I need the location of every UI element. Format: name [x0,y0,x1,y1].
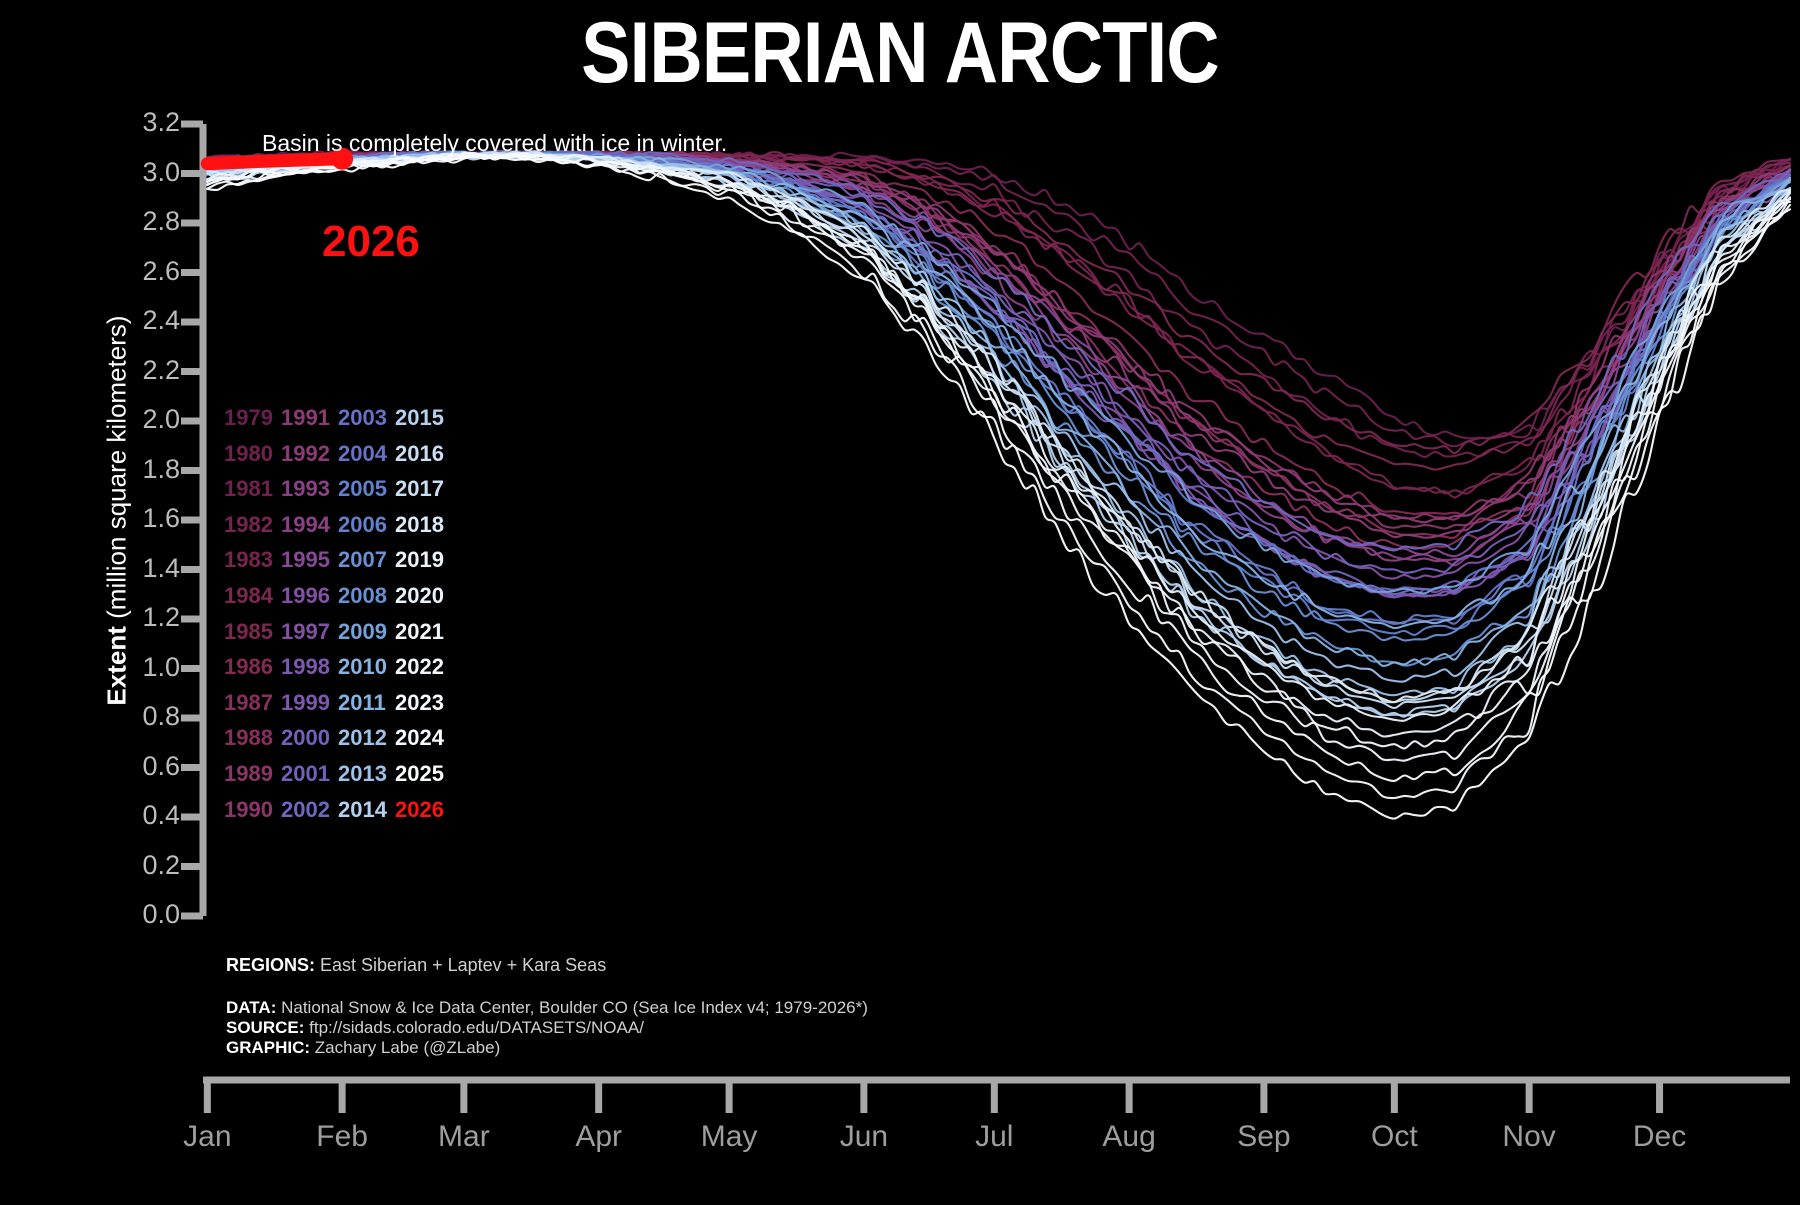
y-axis-tick-label: 0.2 [110,852,180,879]
x-axis-tick-label: Jul [934,1120,1054,1154]
legend-year-2023[interactable]: 2023 [395,685,452,721]
footer-source-label: SOURCE: [226,1018,304,1037]
legend-row: 1990200220142026 [224,792,452,828]
y-axis-tick-label: 3.2 [110,109,180,136]
legend-year-1980[interactable]: 1980 [224,436,281,472]
legend-year-1995[interactable]: 1995 [281,542,338,578]
footer-regions: REGIONS: East Siberian + Laptev + Kara S… [226,955,868,976]
current-year-line [207,159,342,164]
y-axis-tick-label: 0.0 [110,901,180,928]
legend-year-2025[interactable]: 2025 [395,756,452,792]
legend-year-1985[interactable]: 1985 [224,614,281,650]
legend-year-1984[interactable]: 1984 [224,578,281,614]
legend-row: 1984199620082020 [224,578,452,614]
footer-regions-value: East Siberian + Laptev + Kara Seas [315,955,606,975]
legend-year-1997[interactable]: 1997 [281,614,338,650]
x-axis-tick-label: Dec [1600,1120,1720,1154]
legend-year-2021[interactable]: 2021 [395,614,452,650]
footer-graphic-label: GRAPHIC: [226,1038,310,1057]
x-axis-tick-label: Nov [1469,1120,1589,1154]
legend-year-2019[interactable]: 2019 [395,542,452,578]
x-axis-tick-label: Feb [282,1120,402,1154]
legend-year-2015[interactable]: 2015 [395,400,452,436]
legend-year-2011[interactable]: 2011 [338,685,395,721]
legend-year-2014[interactable]: 2014 [338,792,395,828]
legend-year-2012[interactable]: 2012 [338,720,395,756]
legend-row: 1980199220042016 [224,436,452,472]
legend-year-1991[interactable]: 1991 [281,400,338,436]
footer-graphic: GRAPHIC: Zachary Labe (@ZLabe) [226,1038,868,1058]
legend-row: 1983199520072019 [224,542,452,578]
y-axis-tick-label: 3.0 [110,159,180,186]
legend-row: 1981199320052017 [224,471,452,507]
x-axis-tick-label: Aug [1069,1120,1189,1154]
x-axis-tick-label: Jun [804,1120,924,1154]
legend-year-2000[interactable]: 2000 [281,720,338,756]
footer-graphic-value: Zachary Labe (@ZLabe) [310,1038,500,1057]
legend-year-2016[interactable]: 2016 [395,436,452,472]
legend-year-1987[interactable]: 1987 [224,685,281,721]
legend-year-1999[interactable]: 1999 [281,685,338,721]
legend-year-1986[interactable]: 1986 [224,649,281,685]
legend-year-2010[interactable]: 2010 [338,649,395,685]
legend-year-2005[interactable]: 2005 [338,471,395,507]
legend-year-1989[interactable]: 1989 [224,756,281,792]
legend-year-2003[interactable]: 2003 [338,400,395,436]
legend-year-2006[interactable]: 2006 [338,507,395,543]
footer-credits: REGIONS: East Siberian + Laptev + Kara S… [226,955,868,1058]
x-axis-tick-label: Mar [404,1120,524,1154]
legend-year-2020[interactable]: 2020 [395,578,452,614]
legend-row: 1987199920112023 [224,685,452,721]
legend-year-2013[interactable]: 2013 [338,756,395,792]
winter-annotation: Basin is completely covered with ice in … [262,130,727,157]
legend-row: 1979199120032015 [224,400,452,436]
x-axis-tick-label: Apr [539,1120,659,1154]
legend-year-2017[interactable]: 2017 [395,471,452,507]
legend-row: 1982199420062018 [224,507,452,543]
legend-year-2002[interactable]: 2002 [281,792,338,828]
year-legend: 1979199120032015198019922004201619811993… [224,400,452,827]
footer-regions-label: REGIONS: [226,955,315,975]
footer-data-label: DATA: [226,998,276,1017]
legend-year-2004[interactable]: 2004 [338,436,395,472]
legend-year-2007[interactable]: 2007 [338,542,395,578]
legend-year-2018[interactable]: 2018 [395,507,452,543]
legend-row: 1988200020122024 [224,720,452,756]
legend-year-1996[interactable]: 1996 [281,578,338,614]
current-year-callout: 2026 [322,217,420,267]
y-axis-label-rest: (million square kilometers) [102,315,132,626]
legend-year-2024[interactable]: 2024 [395,720,452,756]
legend-year-1992[interactable]: 1992 [281,436,338,472]
y-axis-label: Extent (million square kilometers) [102,191,133,831]
footer-data: DATA: National Snow & Ice Data Center, B… [226,998,868,1018]
footer-source: SOURCE: ftp://sidads.colorado.edu/DATASE… [226,1018,868,1038]
legend-year-1981[interactable]: 1981 [224,471,281,507]
legend-year-2026[interactable]: 2026 [395,792,452,828]
legend-year-1993[interactable]: 1993 [281,471,338,507]
legend-year-1982[interactable]: 1982 [224,507,281,543]
legend-year-2001[interactable]: 2001 [281,756,338,792]
legend-year-2022[interactable]: 2022 [395,649,452,685]
y-axis-label-bold: Extent [102,626,132,705]
footer-source-value: ftp://sidads.colorado.edu/DATASETS/NOAA/ [304,1018,644,1037]
legend-row: 1986199820102022 [224,649,452,685]
legend-row: 1985199720092021 [224,614,452,650]
legend-year-1994[interactable]: 1994 [281,507,338,543]
x-axis-tick-label: Jan [147,1120,267,1154]
legend-year-1983[interactable]: 1983 [224,542,281,578]
legend-year-1988[interactable]: 1988 [224,720,281,756]
legend-year-2008[interactable]: 2008 [338,578,395,614]
legend-row: 1989200120132025 [224,756,452,792]
legend-year-1979[interactable]: 1979 [224,400,281,436]
legend-year-1990[interactable]: 1990 [224,792,281,828]
x-axis-tick-label: Sep [1204,1120,1324,1154]
footer-data-value: National Snow & Ice Data Center, Boulder… [276,998,868,1017]
x-axis-tick-label: May [669,1120,789,1154]
legend-year-1998[interactable]: 1998 [281,649,338,685]
legend-year-2009[interactable]: 2009 [338,614,395,650]
x-axis-tick-label: Oct [1334,1120,1454,1154]
